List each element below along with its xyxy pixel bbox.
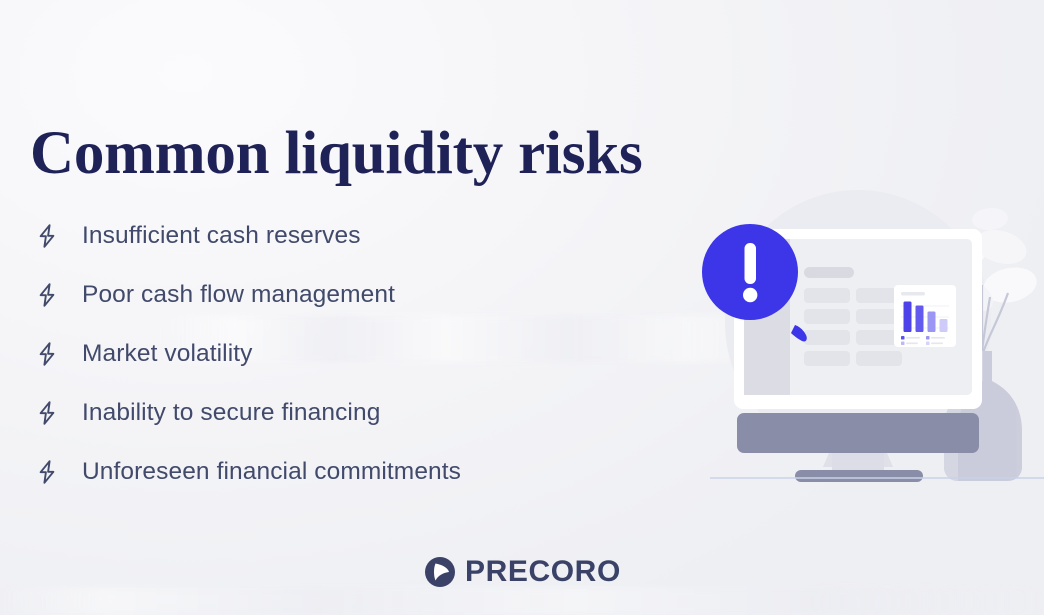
list-item: Inability to secure financing: [33, 383, 653, 442]
list-item-label: Poor cash flow management: [82, 281, 395, 309]
lightning-bolt-icon: [33, 399, 61, 427]
precoro-play-circle-icon: [424, 556, 456, 588]
lightning-bolt-icon: [33, 340, 61, 368]
exclamation-dot-icon: [743, 288, 757, 302]
monitor-base: [795, 470, 923, 482]
list-item-label: Insufficient cash reserves: [82, 222, 361, 250]
chart-bar: [904, 302, 912, 333]
precoro-logo: PRECORO: [424, 556, 621, 588]
chart-card: [894, 285, 956, 347]
lightning-bolt-icon: [33, 458, 61, 486]
background-watermark-bottom: [0, 588, 1044, 615]
precoro-logo-text: PRECORO: [465, 557, 621, 587]
dashboard-title-placeholder: [804, 267, 854, 278]
list-item: Poor cash flow management: [33, 265, 653, 324]
page-title: Common liquidity risks: [30, 122, 643, 186]
liquidity-risk-illustration: [690, 175, 1044, 495]
list-item: Unforeseen financial commitments: [33, 442, 653, 501]
chart-bar: [916, 306, 924, 333]
exclamation-mark-icon: [745, 243, 757, 284]
list-item-label: Inability to secure financing: [82, 399, 380, 427]
list-item-label: Unforeseen financial commitments: [82, 458, 461, 486]
lightning-bolt-icon: [33, 222, 61, 250]
list-item-label: Market volatility: [82, 340, 253, 368]
chart-bar: [928, 312, 936, 333]
lightning-bolt-icon: [33, 281, 61, 309]
chart-bar: [940, 319, 948, 332]
list-item: Insufficient cash reserves: [33, 206, 653, 265]
slide-canvas: Common liquidity risks Insufficient cash…: [0, 0, 1044, 615]
list-item: Market volatility: [33, 324, 653, 383]
risk-list: Insufficient cash reserves Poor cash flo…: [33, 206, 653, 501]
monitor-chin: [737, 413, 979, 453]
